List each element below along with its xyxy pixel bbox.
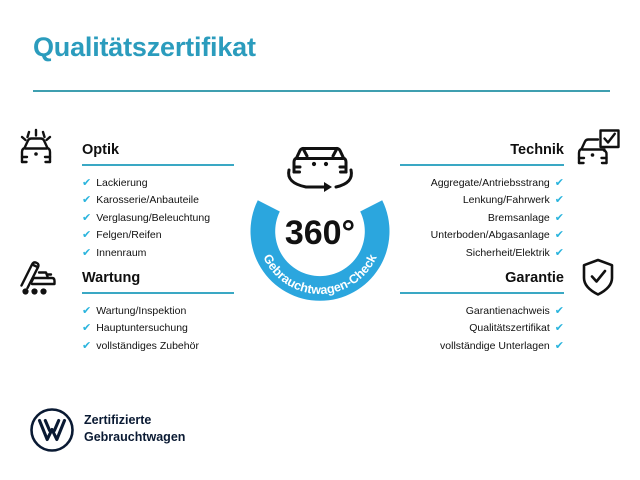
branding-line-1: Zertifizierte — [84, 412, 185, 429]
list-item: ✔Wartung/Inspektion — [82, 302, 234, 320]
section-title-technik: Technik — [510, 142, 564, 158]
car-wrench-icon — [18, 256, 66, 298]
check-icon: ✔ — [555, 338, 564, 355]
volkswagen-branding-text: Zertifizierte Gebrauchtwagen — [84, 412, 185, 446]
section-garantie: Garantie Garantienachweis✔ Qualitätszert… — [400, 256, 622, 355]
list-item-label: Unterboden/Abgasanlage — [431, 229, 550, 241]
check-icon: ✔ — [82, 303, 91, 320]
section-divider-optik — [82, 164, 234, 166]
section-technik: Technik Aggregate/Antriebsstrang✔ Lenkun… — [400, 128, 622, 262]
list-item: Unterboden/Abgasanlage✔ — [400, 227, 564, 245]
section-title-optik: Optik — [82, 142, 119, 158]
list-item: ✔Hauptuntersuchung — [82, 320, 234, 338]
car-rotate-360-icon — [289, 149, 352, 193]
section-header-wartung: Wartung — [18, 256, 234, 302]
section-divider-garantie — [400, 292, 564, 294]
section-wartung: Wartung ✔Wartung/Inspektion ✔Hauptunters… — [18, 256, 234, 355]
list-item-label: vollständiges Zubehör — [96, 340, 199, 352]
list-item: Qualitätszertifikat✔ — [400, 320, 564, 338]
check-icon: ✔ — [555, 192, 564, 209]
list-item-label: Karosserie/Anbauteile — [96, 194, 199, 206]
list-item-label: Bremsanlage — [488, 212, 550, 224]
list-item-label: Verglasung/Beleuchtung — [96, 212, 210, 224]
list-item-label: Lenkung/Fahrwerk — [463, 194, 550, 206]
list-item-label: Lackierung — [96, 177, 147, 189]
list-item-label: Hauptuntersuchung — [96, 322, 188, 334]
check-icon: ✔ — [82, 338, 91, 355]
check-icon: ✔ — [82, 227, 91, 244]
volkswagen-logo-icon — [30, 408, 74, 452]
section-header-garantie: Garantie — [400, 256, 622, 302]
check-icon: ✔ — [82, 320, 91, 337]
list-item-label: Wartung/Inspektion — [96, 305, 186, 317]
list-item-label: Garantienachweis — [466, 305, 550, 317]
section-header-optik: Optik — [18, 128, 234, 174]
list-item-label: Aggregate/Antriebsstrang — [431, 177, 550, 189]
section-title-wartung: Wartung — [82, 270, 140, 286]
list-item: Aggregate/Antriebsstrang✔ — [400, 174, 564, 192]
badge-360-check: 360° Gebrauchtwagen-Check — [228, 116, 412, 312]
checklist-technik: Aggregate/Antriebsstrang✔ Lenkung/Fahrwe… — [400, 174, 564, 262]
list-item: Garantienachweis✔ — [400, 302, 564, 320]
check-icon: ✔ — [555, 175, 564, 192]
list-item: ✔Karosserie/Anbauteile — [82, 192, 234, 210]
list-item: ✔Lackierung — [82, 174, 234, 192]
checklist-garantie: Garantienachweis✔ Qualitätszertifikat✔ v… — [400, 302, 564, 355]
list-item-label: Felgen/Reifen — [96, 229, 161, 241]
section-title-garantie: Garantie — [505, 270, 564, 286]
badge-degrees: 360° — [285, 214, 355, 252]
certificate-page: Qualitätszertifikat — [0, 0, 640, 480]
list-item: Bremsanlage✔ — [400, 209, 564, 227]
car-shine-icon — [18, 128, 66, 170]
section-optik: Optik ✔Lackierung ✔Karosserie/Anbauteile… — [18, 128, 234, 262]
section-divider-wartung — [82, 292, 234, 294]
check-icon: ✔ — [82, 175, 91, 192]
list-item-label: vollständige Unterlagen — [440, 340, 550, 352]
checklist-wartung: ✔Wartung/Inspektion ✔Hauptuntersuchung ✔… — [82, 302, 234, 355]
title-divider — [33, 90, 610, 92]
branding-line-2: Gebrauchtwagen — [84, 429, 185, 446]
page-title: Qualitätszertifikat — [33, 32, 256, 63]
section-header-technik: Technik — [400, 128, 622, 174]
section-divider-technik — [400, 164, 564, 166]
check-icon: ✔ — [82, 210, 91, 227]
list-item-label: Qualitätszertifikat — [469, 322, 550, 334]
shield-check-icon — [574, 256, 622, 298]
check-icon: ✔ — [555, 320, 564, 337]
list-item: ✔Felgen/Reifen — [82, 227, 234, 245]
car-checkbox-icon — [574, 128, 622, 170]
list-item: ✔Verglasung/Beleuchtung — [82, 209, 234, 227]
list-item: vollständige Unterlagen✔ — [400, 337, 564, 355]
check-icon: ✔ — [82, 192, 91, 209]
check-icon: ✔ — [555, 303, 564, 320]
list-item: ✔vollständiges Zubehör — [82, 337, 234, 355]
check-icon: ✔ — [555, 210, 564, 227]
list-item: Lenkung/Fahrwerk✔ — [400, 192, 564, 210]
volkswagen-branding: Zertifizierte Gebrauchtwagen — [30, 406, 270, 458]
checklist-optik: ✔Lackierung ✔Karosserie/Anbauteile ✔Verg… — [82, 174, 234, 262]
check-icon: ✔ — [555, 227, 564, 244]
